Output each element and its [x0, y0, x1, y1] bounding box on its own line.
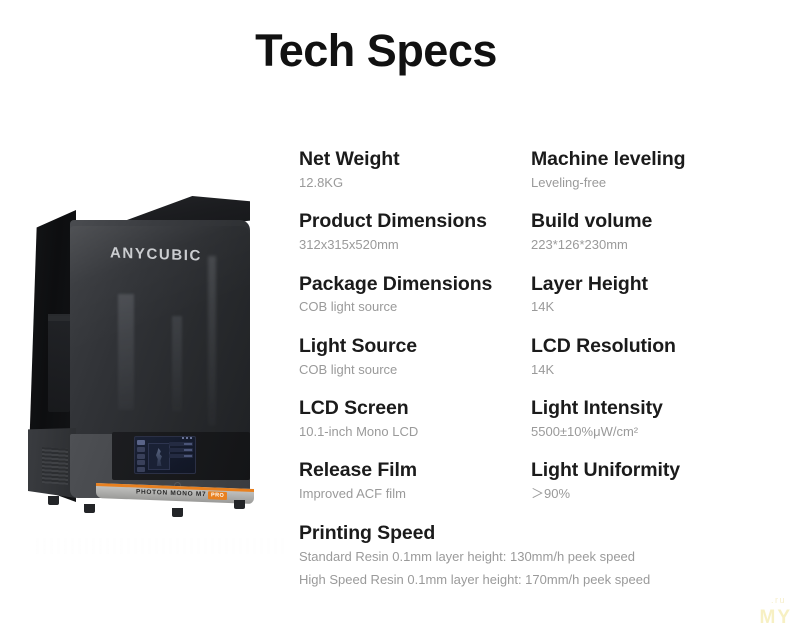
screen-info-row	[169, 442, 193, 446]
spec-value: 5500±10%μW/cm²	[531, 422, 779, 442]
spec-value: COB light source	[299, 297, 531, 317]
hood-reflection-c	[208, 256, 216, 426]
printer-foot	[172, 508, 183, 517]
hood-reflection-a	[118, 294, 134, 410]
spec-value: 14K	[531, 360, 779, 380]
hood-reflection-b	[172, 316, 182, 412]
spec-item-printing-speed: Printing Speed Standard Resin 0.1mm laye…	[299, 522, 779, 590]
watermark-logo-text: MY	[760, 607, 793, 629]
spec-value: 14K	[531, 297, 779, 317]
spec-item-net-weight: Net Weight 12.8KG	[299, 148, 531, 192]
spec-value: Improved ACF film	[299, 484, 531, 504]
screen-model-shape	[154, 448, 165, 466]
watermark-bars	[36, 538, 286, 554]
spec-label: Package Dimensions	[299, 273, 531, 297]
printer-foot	[48, 496, 59, 505]
screen-gear-icon	[137, 467, 145, 472]
spec-grid: Net Weight 12.8KG Machine leveling Level…	[299, 148, 779, 522]
screen-info-row	[169, 454, 193, 458]
spec-label: Light Uniformity	[531, 459, 779, 483]
page-title: Tech Specs	[0, 24, 752, 78]
spec-label: Printing Speed	[299, 522, 779, 546]
spec-value: ＞90%	[531, 484, 779, 504]
spec-item-machine-leveling: Machine leveling Leveling-free	[531, 148, 779, 192]
spec-label: Net Weight	[299, 148, 531, 172]
spec-value: 10.1-inch Mono LCD	[299, 422, 531, 442]
spec-label: Light Source	[299, 335, 531, 359]
screen-icon-bar	[137, 440, 145, 472]
tech-specs-list: Net Weight 12.8KG Machine leveling Level…	[299, 148, 779, 608]
spec-label: Layer Height	[531, 273, 779, 297]
spec-label: Build volume	[531, 210, 779, 234]
printer-pro-badge: PRO	[208, 491, 227, 500]
spec-label: LCD Screen	[299, 397, 531, 421]
printer-vent-grille	[42, 447, 68, 485]
spec-item-package-dimensions: Package Dimensions COB light source	[299, 273, 531, 317]
printer-model-name: PHOTON MONO M7	[136, 489, 206, 499]
screen-info-panel	[169, 442, 193, 471]
anycubic-brand-logo: ANYCUBIC	[110, 244, 202, 264]
screen-print-icon	[137, 447, 145, 452]
faint-watermark-pattern	[36, 520, 286, 578]
spec-label: Light Intensity	[531, 397, 779, 421]
screen-info-row	[169, 448, 193, 452]
printer-foot	[234, 500, 245, 509]
spec-item-light-intensity: Light Intensity 5500±10%μW/cm²	[531, 397, 779, 441]
screen-files-icon	[137, 460, 145, 465]
spec-label: Release Film	[299, 459, 531, 483]
spec-item-product-dimensions: Product Dimensions 312x315x520mm	[299, 210, 531, 254]
screen-status-icons	[182, 436, 193, 439]
spec-value: 12.8KG	[299, 173, 531, 193]
spec-value: Leveling-free	[531, 173, 779, 193]
spec-label: Machine leveling	[531, 148, 779, 172]
spec-item-light-uniformity: Light Uniformity ＞90%	[531, 459, 779, 503]
spec-label: LCD Resolution	[531, 335, 779, 359]
printer-internal-mechanism	[48, 316, 70, 412]
screen-model-preview	[148, 443, 170, 470]
spec-value-line-2: High Speed Resin 0.1mm layer height: 170…	[299, 569, 779, 590]
spec-value: 312x315x520mm	[299, 235, 531, 255]
spec-value: 223*126*230mm	[531, 235, 779, 255]
screen-home-icon	[137, 440, 145, 445]
printer-foot	[84, 504, 95, 513]
spec-item-light-source: Light Source COB light source	[299, 335, 531, 379]
spec-item-release-film: Release Film Improved ACF film	[299, 459, 531, 503]
spec-value: COB light source	[299, 360, 531, 380]
spec-label: Product Dimensions	[299, 210, 531, 234]
spec-item-lcd-resolution: LCD Resolution 14K	[531, 335, 779, 379]
screen-tools-icon	[137, 454, 145, 459]
spec-value-line-1: Standard Resin 0.1mm layer height: 130mm…	[299, 546, 779, 567]
product-image-3d-printer: ANYCUBIC PHOTON MONO M7 PRO	[22, 196, 272, 526]
printer-touchscreen	[134, 436, 196, 474]
spec-item-lcd-screen: LCD Screen 10.1-inch Mono LCD	[299, 397, 531, 441]
spec-item-build-volume: Build volume 223*126*230mm	[531, 210, 779, 254]
spec-item-layer-height: Layer Height 14K	[531, 273, 779, 317]
